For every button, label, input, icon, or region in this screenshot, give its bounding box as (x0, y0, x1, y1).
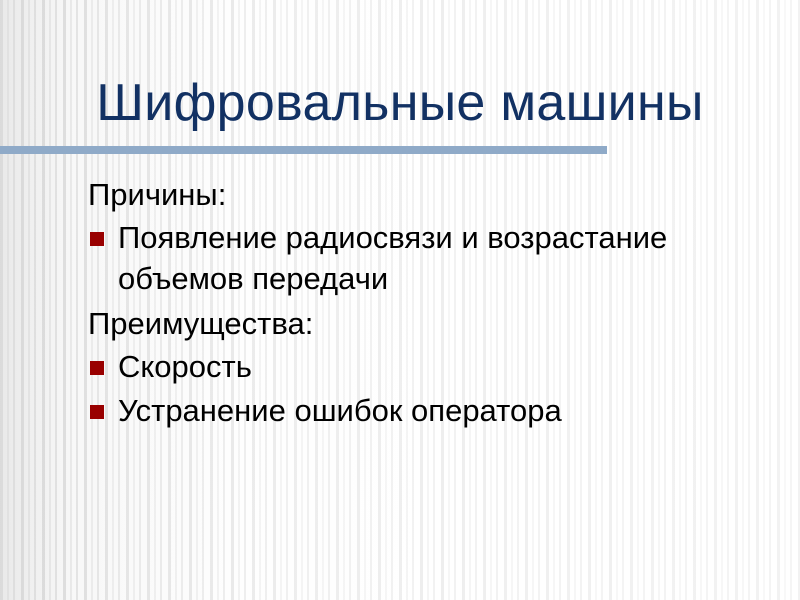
slide-body: Причины: Появление радиосвязи и возраста… (88, 174, 748, 434)
square-bullet-icon (90, 361, 104, 375)
square-bullet-icon (90, 232, 104, 246)
list-item: Скорость (88, 346, 748, 387)
slide-content: Шифровальные машины Причины: Появление р… (0, 0, 800, 600)
list-item: Появление радиосвязи и возрастание объем… (88, 217, 748, 299)
square-bullet-icon (90, 405, 104, 419)
section-heading-reasons: Причины: (88, 174, 748, 215)
list-item-label: Скорость (118, 346, 748, 387)
list-item-label: Появление радиосвязи и возрастание объем… (118, 217, 748, 299)
list-item: Устранение ошибок оператора (88, 390, 748, 431)
presentation-slide: Шифровальные машины Причины: Появление р… (0, 0, 800, 600)
title-underline-rule (0, 146, 607, 154)
list-item-label: Устранение ошибок оператора (118, 390, 748, 431)
section-heading-advantages: Преимущества: (88, 303, 748, 344)
slide-title: Шифровальные машины (0, 74, 800, 132)
